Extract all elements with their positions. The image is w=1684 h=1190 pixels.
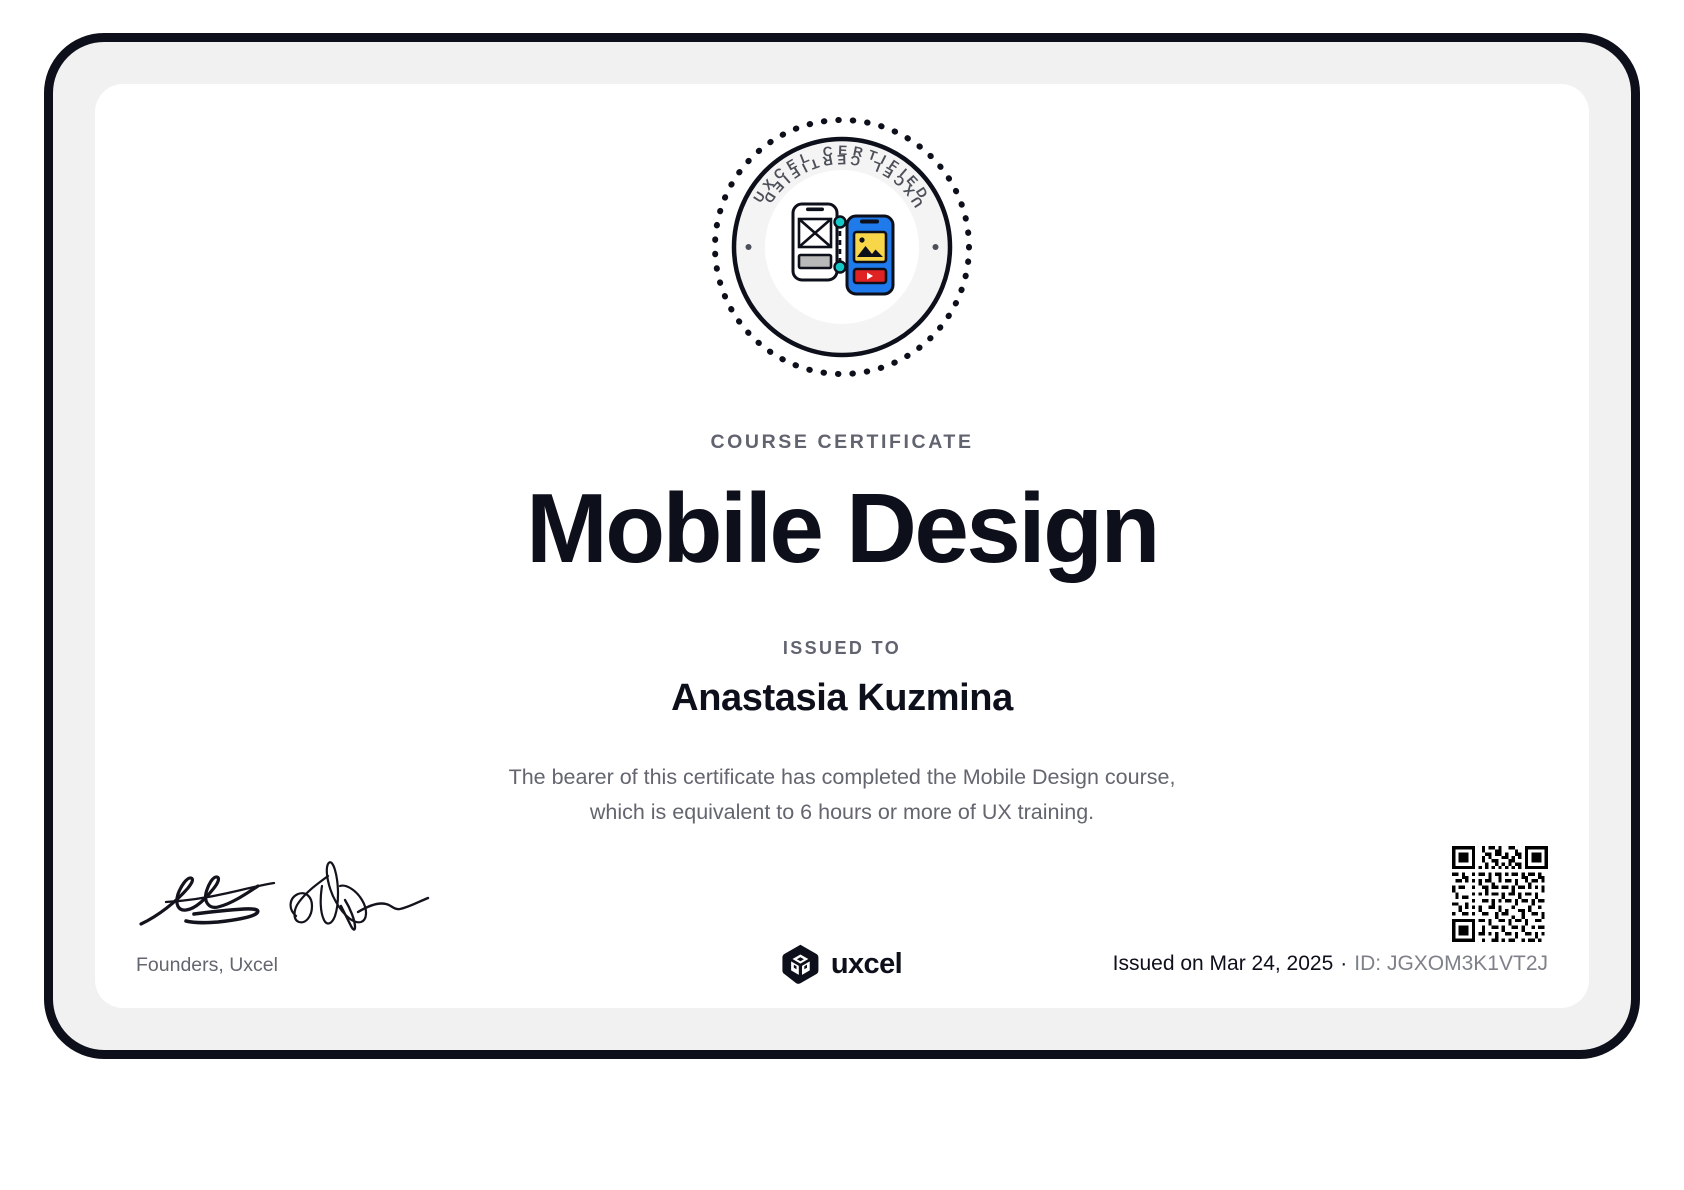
brand-name: uxcel (831, 948, 902, 981)
issued-to-label: ISSUED TO (95, 638, 1589, 659)
certificate-page: UXCEL CERTIFIED UXCEL CERTIFIED (0, 0, 1684, 1190)
certificate-frame: UXCEL CERTIFIED UXCEL CERTIFIED (44, 33, 1640, 1059)
page-title: Mobile Design (95, 474, 1589, 584)
certificate-id: ID: JGXOM3K1VT2J (1354, 952, 1548, 975)
founders-signature (136, 854, 436, 939)
description-line-1: The bearer of this certificate has compl… (412, 760, 1272, 795)
issue-info: Issued on Mar 24, 2025·ID: JGXOM3K1VT2J (1113, 952, 1548, 976)
founders-label: Founders, Uxcel (136, 954, 278, 977)
description-line-2: which is equivalent to 6 hours or more o… (412, 795, 1272, 830)
footer-separator: · (1333, 952, 1354, 975)
uxcel-certified-seal: UXCEL CERTIFIED UXCEL CERTIFIED (707, 112, 977, 382)
course-certificate-kicker: COURSE CERTIFICATE (95, 431, 1589, 454)
issued-on-date: Issued on Mar 24, 2025 (1113, 952, 1334, 975)
verification-qr-code[interactable] (1452, 846, 1548, 942)
recipient-name: Anastasia Kuzmina (95, 677, 1589, 720)
certificate-inner-panel: UXCEL CERTIFIED UXCEL CERTIFIED (95, 84, 1589, 1008)
uxcel-brand: uxcel (782, 944, 902, 984)
uxcel-cube-logo (782, 944, 819, 984)
certificate-description: The bearer of this certificate has compl… (412, 760, 1272, 830)
